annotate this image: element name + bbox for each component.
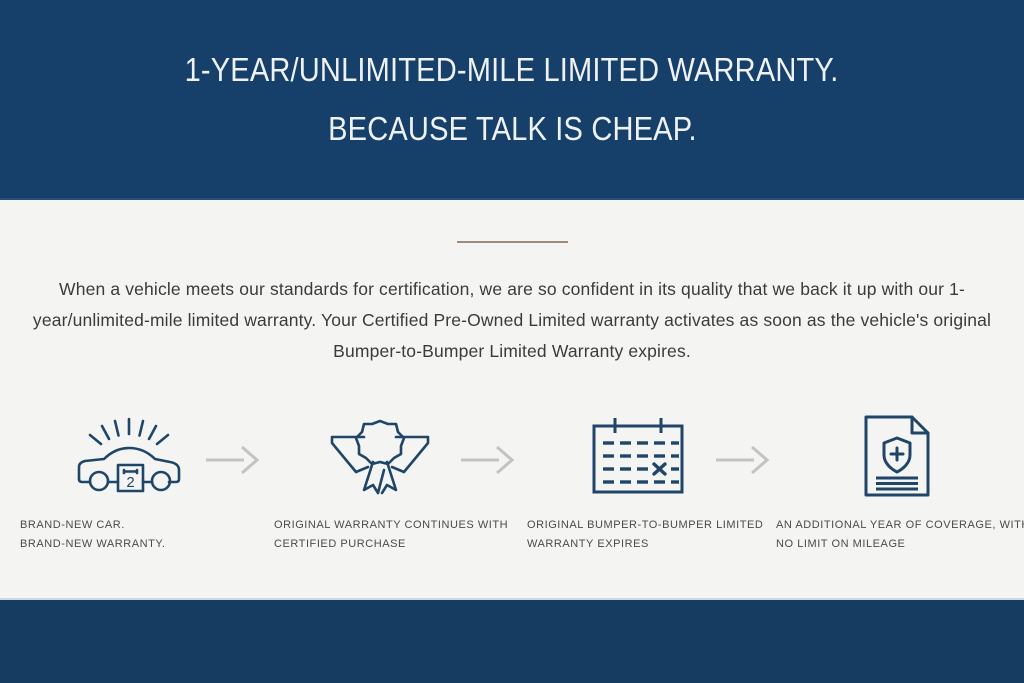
step-caption-line-2: BRAND-NEW WARRANTY. bbox=[20, 535, 246, 554]
step-caption: AN ADDITIONAL YEAR OF COVERAGE, WITH NO … bbox=[772, 516, 1002, 554]
step-connector-arrow bbox=[714, 444, 772, 476]
car-with-shine-icon: 2 bbox=[74, 417, 184, 495]
calendar-x-mark bbox=[654, 464, 665, 474]
step-connector-arrow bbox=[459, 444, 517, 476]
hero-headline-line-1: 1-YEAR/UNLIMITED-MILE LIMITED WARRANTY. bbox=[185, 53, 839, 86]
document-text-lines bbox=[876, 478, 918, 489]
arrow-right-icon bbox=[204, 444, 262, 476]
hero-banner: 1-YEAR/UNLIMITED-MILE LIMITED WARRANTY. … bbox=[0, 0, 1024, 200]
step-caption-line-1: AN ADDITIONAL YEAR OF COVERAGE, WITH bbox=[776, 516, 1002, 535]
arrow-right-icon bbox=[714, 444, 772, 476]
step-item: ORIGINAL WARRANTY CONTINUES WITH CERTIFI… bbox=[270, 408, 500, 554]
arrow-right-icon bbox=[459, 444, 517, 476]
step-caption: BRAND-NEW CAR. BRAND-NEW WARRANTY. bbox=[16, 516, 246, 554]
document-shield-icon bbox=[862, 414, 932, 498]
calendar-x-icon bbox=[589, 416, 687, 496]
step-caption-line-1: ORIGINAL BUMPER-TO-BUMPER LIMITED bbox=[527, 516, 753, 535]
step-icon-wrap bbox=[772, 408, 1002, 504]
step-caption-line-1: BRAND-NEW CAR. bbox=[20, 516, 246, 535]
step-caption-line-2: NO LIMIT ON MILEAGE bbox=[776, 535, 1002, 554]
step-caption-line-2: CERTIFIED PURCHASE bbox=[274, 535, 500, 554]
step-item: AN ADDITIONAL YEAR OF COVERAGE, WITH NO … bbox=[772, 408, 1002, 554]
divider-wrap bbox=[0, 241, 1024, 243]
award-ribbon-icon bbox=[328, 415, 432, 497]
step-item: 2 BRAND-NEW CAR. BRAND-NEW WARRANTY. bbox=[16, 408, 246, 554]
intro-paragraph-block: When a vehicle meets our standards for c… bbox=[31, 274, 993, 367]
step-caption: ORIGINAL BUMPER-TO-BUMPER LIMITED WARRAN… bbox=[523, 516, 753, 554]
car-plate-number: 2 bbox=[126, 474, 134, 491]
warranty-infographic-page: 1-YEAR/UNLIMITED-MILE LIMITED WARRANTY. … bbox=[0, 0, 1024, 681]
step-caption: ORIGINAL WARRANTY CONTINUES WITH CERTIFI… bbox=[270, 516, 500, 554]
step-caption-line-1: ORIGINAL WARRANTY CONTINUES WITH bbox=[274, 516, 500, 535]
step-connector-arrow bbox=[204, 444, 262, 476]
steps-row: 2 BRAND-NEW CAR. BRAND-NEW WARRANTY. bbox=[0, 408, 1024, 568]
copper-divider bbox=[457, 241, 568, 243]
step-caption-line-2: WARRANTY EXPIRES bbox=[527, 535, 753, 554]
intro-paragraph: When a vehicle meets our standards for c… bbox=[31, 274, 993, 367]
hero-headline-line-2: BECAUSE TALK IS CHEAP. bbox=[328, 112, 697, 145]
step-item: ORIGINAL BUMPER-TO-BUMPER LIMITED WARRAN… bbox=[523, 408, 753, 554]
footer-band bbox=[0, 598, 1024, 683]
